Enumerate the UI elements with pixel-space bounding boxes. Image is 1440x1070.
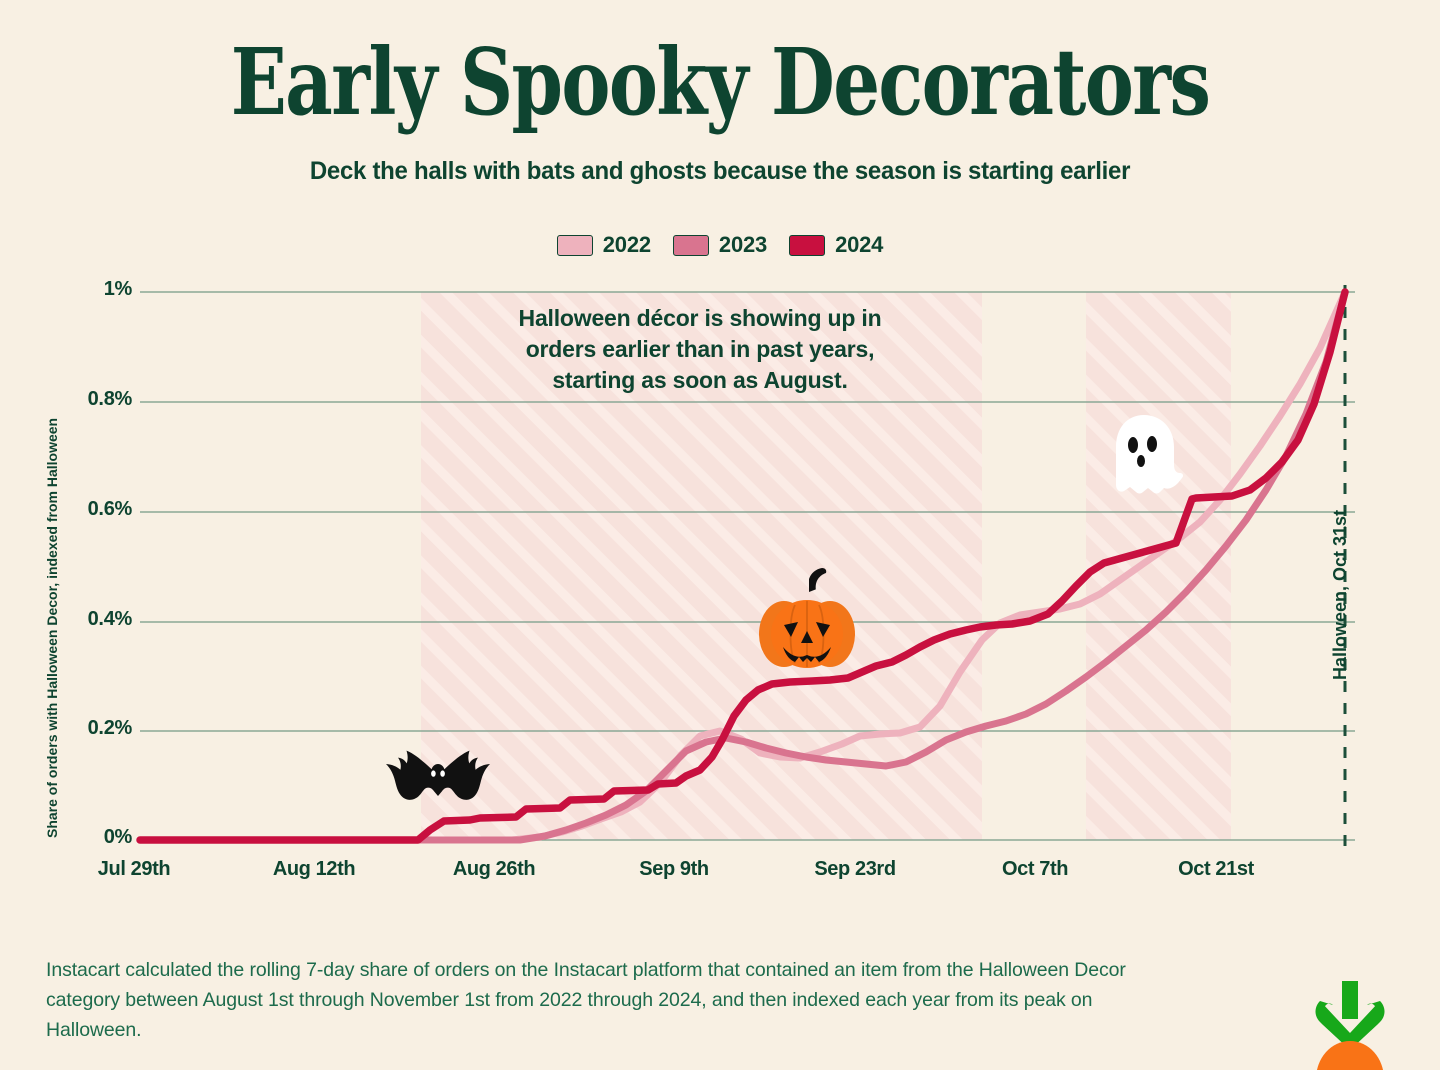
ghost-icon [1108,413,1184,501]
chart-svg [0,0,1440,1063]
y-tick-0: 0% [104,826,132,849]
footer-note: Instacart calculated the rolling 7-day s… [46,955,1126,1045]
x-tick-sep23: Sep 23rd [814,858,895,881]
annotation-line-1: Halloween décor is showing up in [470,303,930,334]
instacart-carrot-logo [1300,975,1400,1070]
x-tick-sep9: Sep 9th [639,858,708,881]
x-tick-aug26: Aug 26th [453,858,535,881]
annotation-line-2: orders earlier than in past years, [470,334,930,365]
y-tick-06: 0.6% [88,498,132,521]
x-tick-jul29: Jul 29th [98,858,170,881]
x-tick-aug12: Aug 12th [273,858,355,881]
chart-plot-area: Share of orders with Halloween Decor, in… [0,0,1440,1063]
y-axis-ticks: 1% 0.8% 0.6% 0.4% 0.2% 0% [60,0,132,1063]
jack-o-lantern-icon [757,567,857,672]
y-tick-08: 0.8% [88,388,132,411]
x-tick-oct21: Oct 21st [1178,858,1254,881]
infographic-root: Early Spooky Decorators Deck the halls w… [0,0,1440,1063]
annotation-line-3: starting as soon as August. [470,365,930,396]
y-tick-02: 0.2% [88,717,132,740]
x-tick-oct7: Oct 7th [1002,858,1068,881]
bat-icon [383,748,493,810]
chart-annotation: Halloween décor is showing up in orders … [470,303,930,396]
halloween-marker-label: Halloween, Oct 31st [1330,510,1351,680]
y-tick-1: 1% [104,278,132,301]
y-tick-04: 0.4% [88,608,132,631]
